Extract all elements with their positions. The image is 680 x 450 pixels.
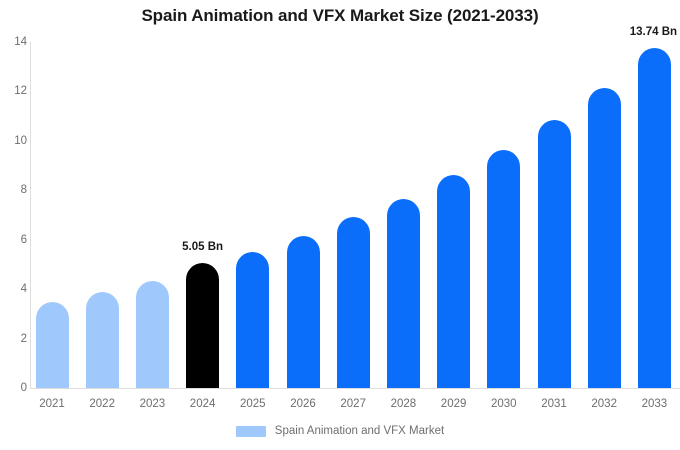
x-axis-tick-label: 2024	[190, 398, 216, 410]
chart-container: Spain Animation and VFX Market Size (202…	[0, 0, 680, 450]
x-axis-tick-label: 2026	[290, 398, 316, 410]
bar[interactable]	[86, 292, 119, 388]
x-axis-tick-label: 2022	[89, 398, 115, 410]
x-axis-tick-label: 2023	[140, 398, 166, 410]
x-axis-tick-label: 2029	[441, 398, 467, 410]
bar-value-label: 5.05 Bn	[182, 241, 223, 253]
bar[interactable]	[437, 175, 470, 388]
x-axis-tick-label: 2025	[240, 398, 266, 410]
legend-swatch	[236, 426, 266, 437]
bar[interactable]	[638, 48, 671, 388]
x-axis-tick-label: 2032	[591, 398, 617, 410]
x-axis-tick-label: 2021	[39, 398, 65, 410]
bar[interactable]	[387, 199, 420, 388]
legend-label[interactable]: Spain Animation and VFX Market	[275, 425, 444, 437]
bars-layer: 2021202220235.05 Bn202420252026202720282…	[0, 0, 680, 450]
bar[interactable]	[588, 88, 621, 388]
bar[interactable]	[236, 252, 269, 388]
bar[interactable]	[287, 236, 320, 388]
bar[interactable]	[186, 263, 219, 388]
bar[interactable]	[337, 217, 370, 388]
bar[interactable]	[36, 302, 69, 388]
chart-legend: Spain Animation and VFX Market	[0, 425, 680, 437]
x-axis-tick-label: 2030	[491, 398, 517, 410]
bar[interactable]	[487, 150, 520, 388]
x-axis-tick-label: 2033	[642, 398, 668, 410]
bar[interactable]	[538, 120, 571, 388]
x-axis-tick-label: 2028	[391, 398, 417, 410]
x-axis-tick-label: 2031	[541, 398, 567, 410]
x-axis-tick-label: 2027	[340, 398, 366, 410]
bar-value-label: 13.74 Bn	[630, 26, 677, 38]
bar[interactable]	[136, 281, 169, 389]
